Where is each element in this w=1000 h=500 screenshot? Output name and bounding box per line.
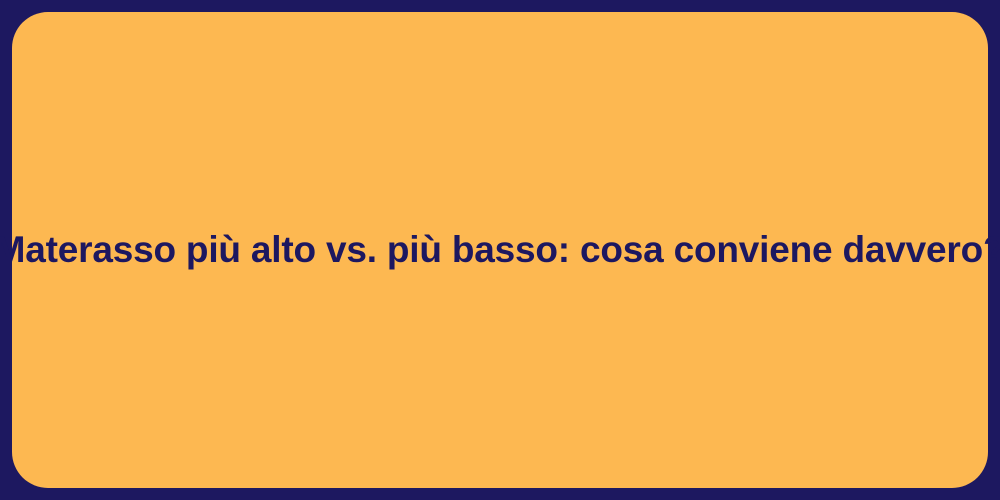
title-card: Materasso più alto vs. più basso: cosa c…: [12, 12, 988, 488]
page-title: Materasso più alto vs. più basso: cosa c…: [0, 226, 1000, 273]
article-title-banner: Materasso più alto vs. più basso: cosa c…: [0, 0, 1000, 500]
